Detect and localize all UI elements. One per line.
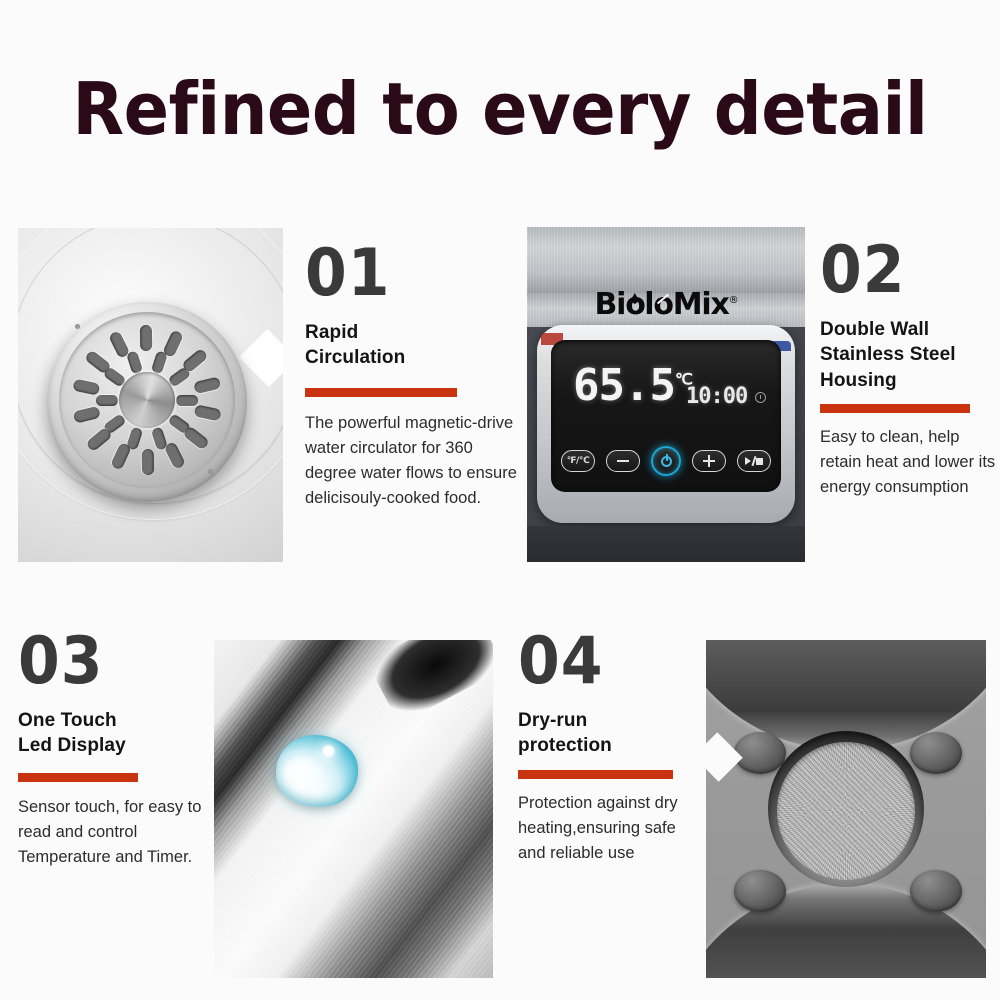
feature-block-01: 01 Rapid Circulation The powerful magnet… [305, 246, 527, 511]
page-title: Refined to every detail [35, 72, 965, 148]
feature-heading-line: Rapid [305, 320, 527, 345]
pump-grille-slot [72, 379, 100, 396]
feature-heading-line: One Touch [18, 708, 218, 733]
accent-divider [518, 770, 673, 779]
pump-body [47, 302, 247, 502]
feature-number-03: 03 [18, 629, 218, 694]
housing-bump [910, 732, 962, 774]
water-droplet [276, 735, 358, 807]
pump-grille-face [59, 312, 235, 488]
timer-readout: 10:00 [686, 384, 747, 409]
fahrenheit-celsius-icon: ℉/℃ [567, 456, 589, 466]
touch-button-row: ℉/℃ [561, 450, 771, 476]
feature-description-01: The powerful magnetic-drive water circul… [305, 411, 527, 511]
housing-bump [734, 732, 786, 774]
feature-heading-01: Rapid Circulation [305, 320, 527, 371]
accent-divider [18, 773, 138, 782]
droplet-specular-highlight [320, 743, 337, 759]
power-button[interactable] [651, 446, 681, 476]
pump-grille-slot [162, 329, 184, 358]
product-feature-page: Refined to every detail 01 Rapid Circula… [0, 0, 1000, 1000]
dry-run-sensor-photo [706, 640, 986, 978]
stainless-top-band [527, 227, 805, 293]
pump-grille-slot [140, 325, 152, 351]
housing-bump [910, 870, 962, 912]
feature-number-02: 02 [820, 238, 1000, 303]
temperature-readout: 65.5℃ [573, 364, 692, 408]
sensor-well [768, 731, 924, 887]
pump-grille-slot [142, 449, 154, 475]
feature-heading-line: Led Display [18, 733, 218, 758]
feature-number-04: 04 [518, 629, 703, 694]
pump-grille-slot [181, 348, 209, 374]
pump-grille-slot [126, 350, 143, 374]
biolomix-logo: BioloMix® [527, 287, 805, 322]
pump-grille-slot [110, 442, 132, 471]
led-display-screen: 65.5℃ 10:00 ℉/℃ [551, 340, 781, 492]
pump-grille-slot [108, 330, 130, 359]
control-panel-photo: BioloMix® 65.5℃ 10:00 ℉/℃ [527, 227, 805, 562]
logo-text-part1: Bi [595, 287, 626, 322]
feature-number-01: 01 [305, 241, 527, 306]
pump-grille-slot [194, 404, 222, 421]
clock-icon [755, 392, 766, 403]
feature-description-04: Protection against dry heating,ensuring … [518, 791, 703, 866]
feature-description-03: Sensor touch, for easy to read and contr… [18, 795, 218, 870]
plus-button[interactable] [692, 450, 726, 472]
feature-block-02: 02 Double Wall Stainless Steel Housing E… [820, 243, 1000, 500]
pump-screw [75, 324, 80, 329]
feature-block-03: 03 One Touch Led Display Sensor touch, f… [18, 634, 218, 870]
pump-screw [208, 469, 213, 474]
pump-grille-slot [96, 395, 118, 406]
pump-grille-slot [176, 395, 198, 406]
registered-mark: ® [729, 295, 738, 306]
control-panel-bezel: 65.5℃ 10:00 ℉/℃ [537, 325, 795, 523]
play-stop-icon [745, 456, 764, 466]
feature-heading-04: Dry-run protection [518, 708, 703, 759]
minus-button[interactable] [606, 450, 640, 472]
feature-heading-line: protection [518, 733, 703, 758]
feature-heading-02: Double Wall Stainless Steel Housing [820, 317, 1000, 393]
housing-bump [734, 870, 786, 912]
feature-heading-03: One Touch Led Display [18, 708, 218, 759]
plus-icon [703, 455, 715, 467]
power-icon [661, 456, 672, 467]
feature-heading-line: Dry-run [518, 708, 703, 733]
droplet-soft-highlight [284, 755, 324, 787]
feature-heading-line: Circulation [305, 345, 527, 370]
start-stop-button[interactable] [737, 450, 771, 472]
sensor-mesh-screen [777, 742, 915, 880]
pump-grille-slot [73, 406, 101, 424]
feature-heading-line: Double Wall [820, 317, 1000, 342]
feature-block-04: 04 Dry-run protection Protection against… [518, 634, 703, 866]
pump-grille-slot [85, 426, 113, 452]
logo-flame-o-icon: o [625, 287, 644, 322]
pump-grille-slot [182, 425, 210, 450]
feature-description-02: Easy to clean, help retain heat and lowe… [820, 425, 1000, 500]
feature-heading-line: Stainless Steel [820, 342, 1000, 367]
circulation-pump-photo [18, 228, 283, 562]
unit-toggle-button[interactable]: ℉/℃ [561, 450, 595, 472]
pump-grille-slot [164, 441, 186, 470]
temperature-value: 65.5 [573, 360, 675, 411]
feature-heading-line: Housing [820, 368, 1000, 393]
pump-hub [119, 372, 175, 428]
panel-bottom-band [527, 526, 805, 562]
accent-divider [820, 404, 970, 413]
minus-icon [617, 460, 629, 462]
logo-text-part3: Mix [673, 287, 729, 322]
water-droplet-photo [214, 640, 493, 978]
pump-grille-slot [193, 376, 221, 394]
logo-text-part2: l [644, 287, 653, 322]
accent-divider [305, 388, 457, 397]
logo-leaf-o-icon: o [653, 287, 672, 322]
